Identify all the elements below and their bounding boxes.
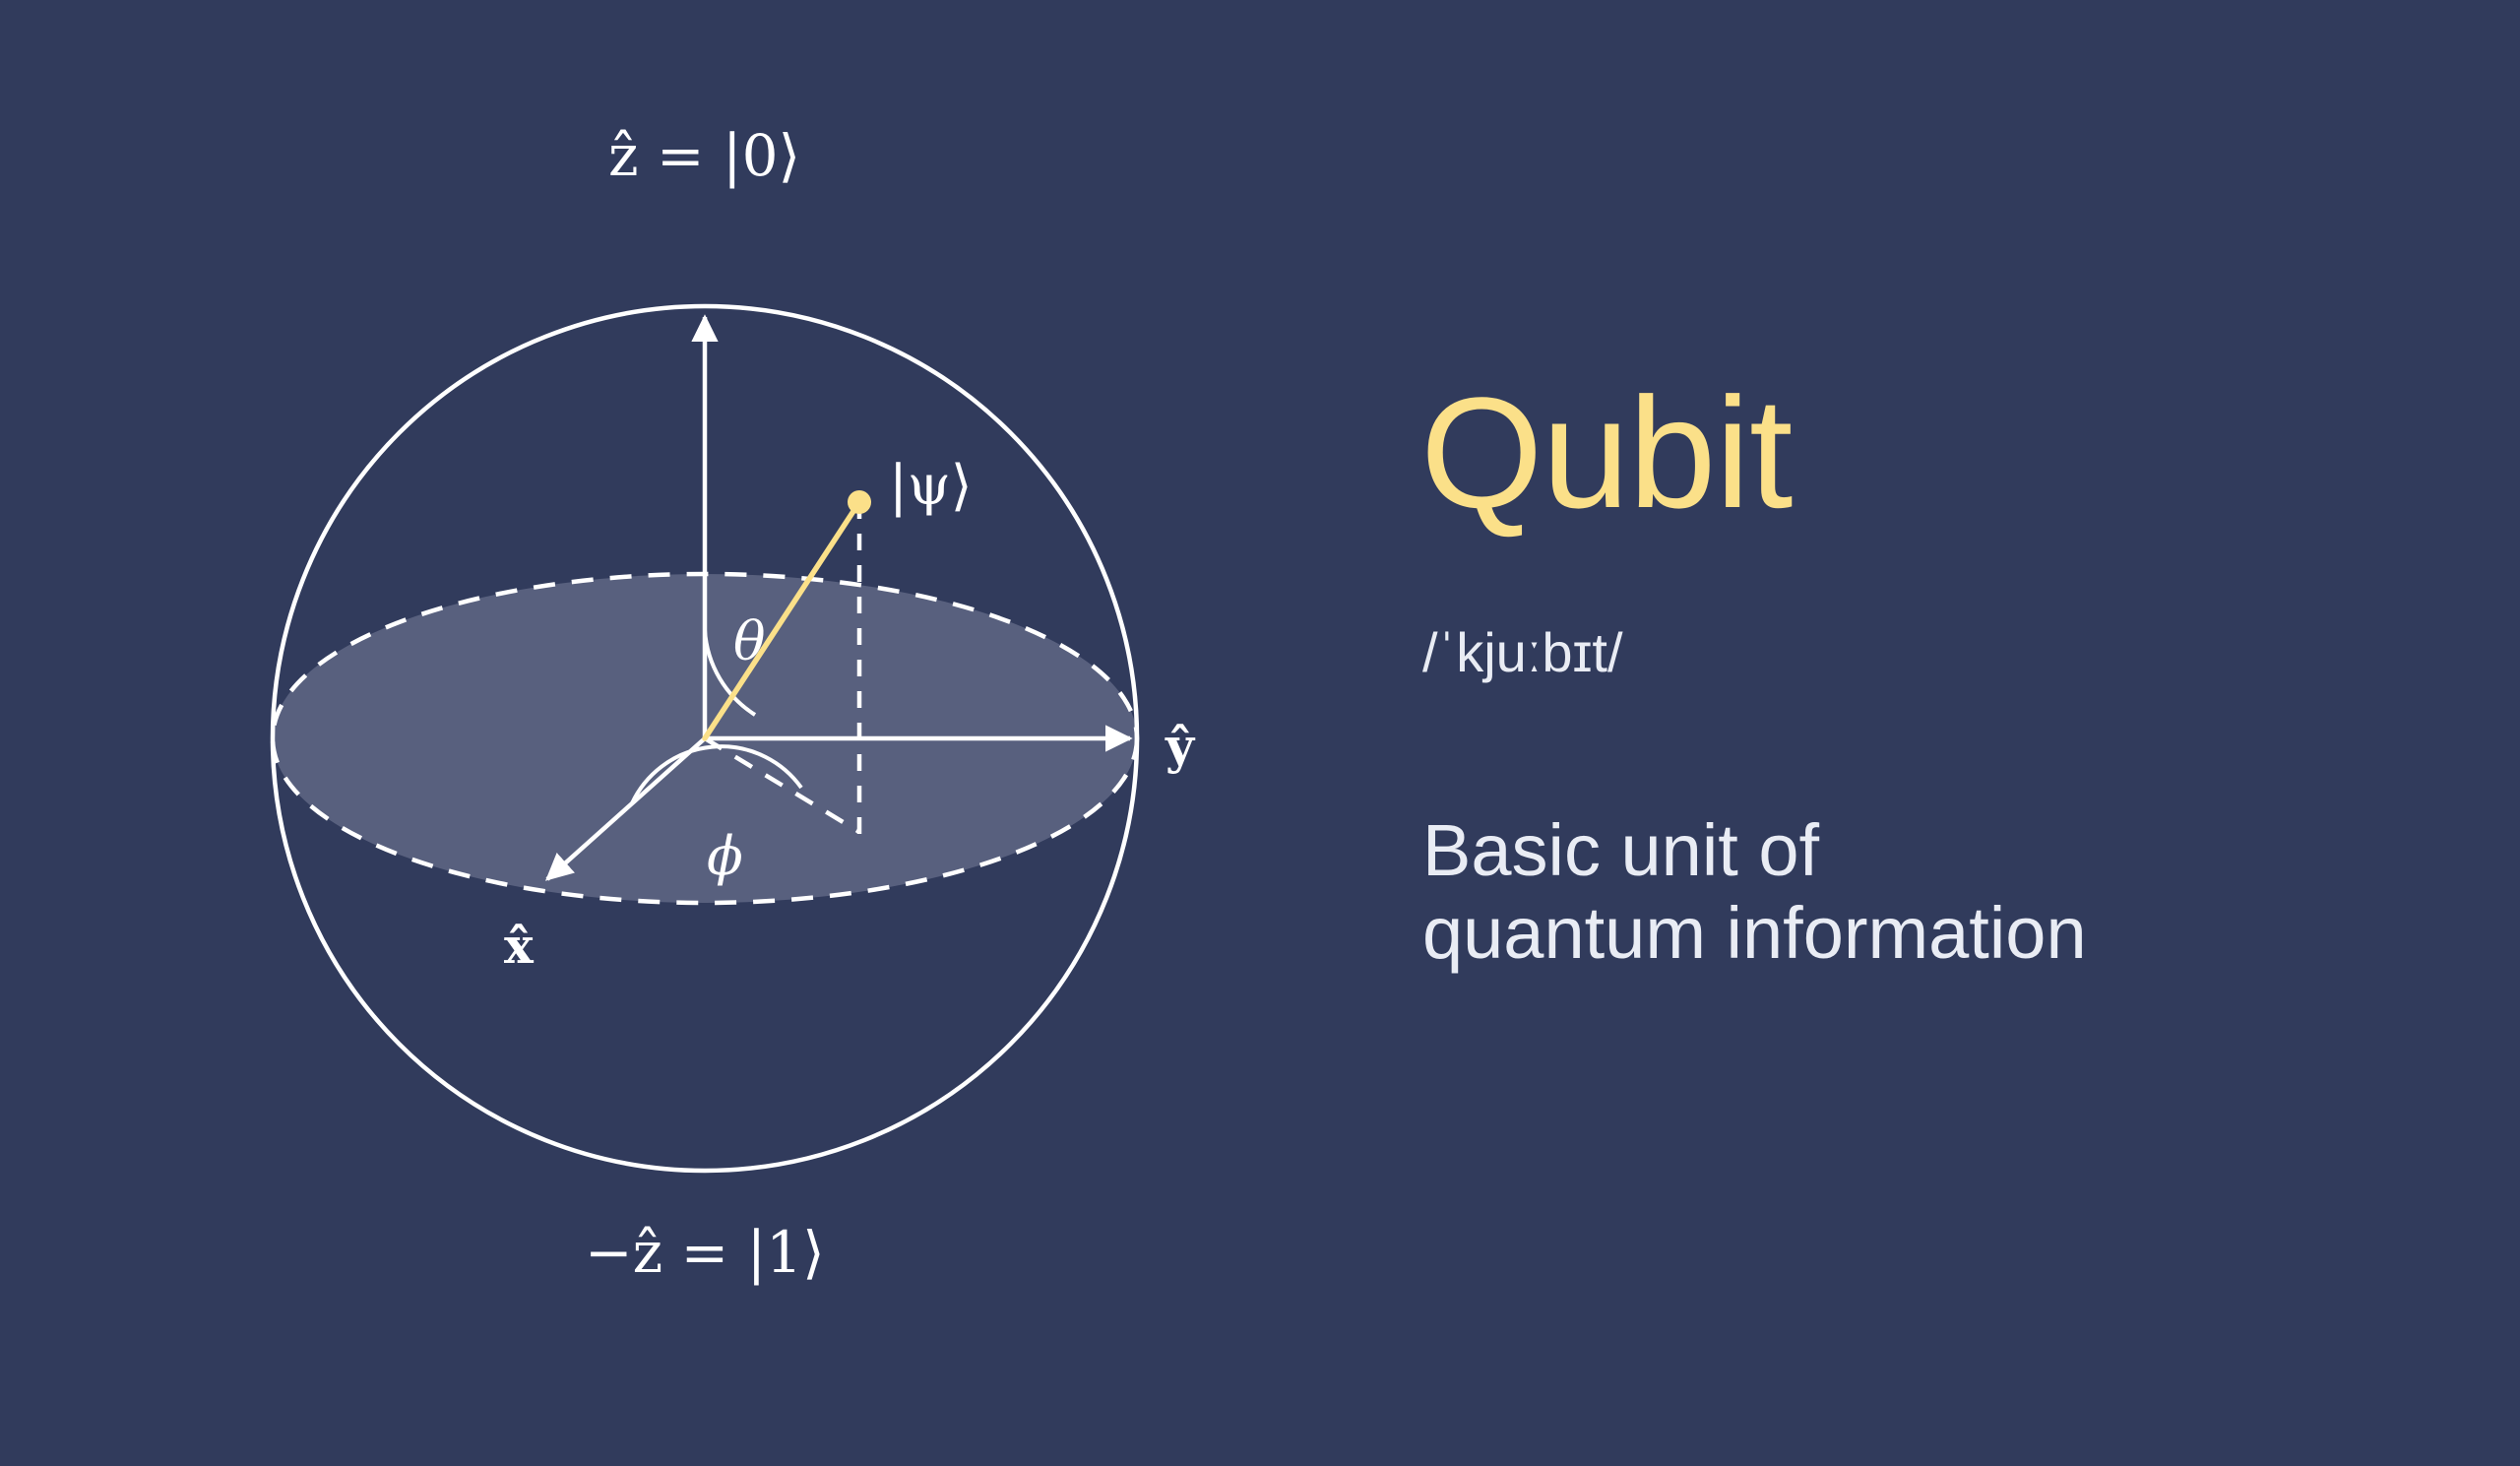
phi-label: ϕ bbox=[707, 825, 743, 887]
x-axis-label: x̂ bbox=[504, 917, 535, 975]
definition-line: Basic unit of bbox=[1422, 809, 2087, 892]
z-positive-label: ẑ = |0⟩ bbox=[608, 122, 800, 189]
state-point bbox=[848, 490, 871, 514]
definition-panel: Qubit /ˈkjuːbɪt/ Basic unit of quantum i… bbox=[1420, 0, 2454, 1466]
pronunciation: /ˈkjuːbɪt/ bbox=[1422, 625, 1623, 680]
y-axis-label: ŷ bbox=[1165, 717, 1196, 775]
z-negative-label: −ẑ = |1⟩ bbox=[585, 1219, 825, 1286]
slide-canvas: ẑ = |0⟩ −ẑ = |1⟩ ŷ x̂ |ψ⟩ θ ϕ Qubit /ˈkj… bbox=[0, 0, 2520, 1466]
state-label: |ψ⟩ bbox=[889, 454, 973, 518]
headword: Qubit bbox=[1420, 374, 1792, 532]
theta-label: θ bbox=[733, 610, 766, 672]
definition-line: quantum information bbox=[1422, 892, 2087, 975]
bloch-sphere-diagram: ẑ = |0⟩ −ẑ = |1⟩ ŷ x̂ |ψ⟩ θ ϕ bbox=[0, 0, 1378, 1466]
definition-text: Basic unit of quantum information bbox=[1422, 809, 2087, 976]
